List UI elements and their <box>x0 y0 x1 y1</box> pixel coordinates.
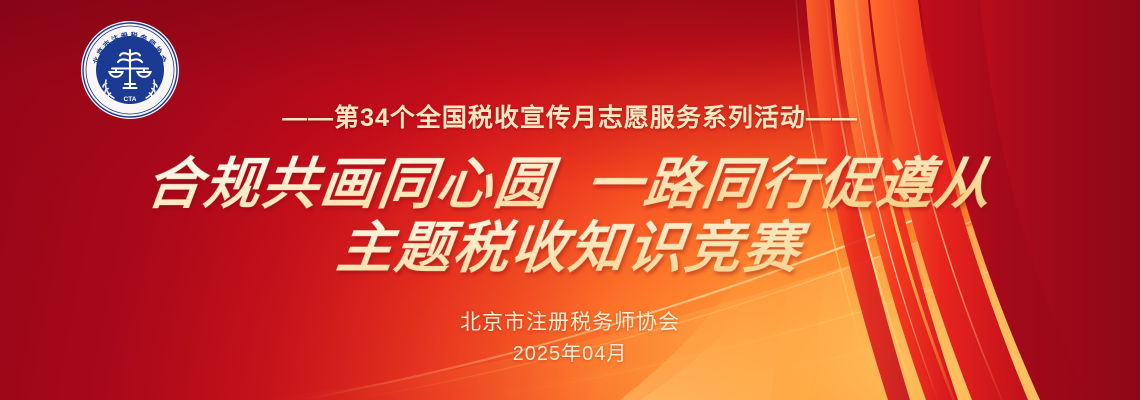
banner-footer-date: 2025年04月 <box>0 337 1140 366</box>
banner-title-line-2: 主题税收知识竞赛 <box>0 203 1140 284</box>
promotional-banner: 北京市注册税务师协会 BEIJING CERTIFIED TAX AGENTS … <box>0 0 1140 400</box>
banner-text-content: ——第34个全国税收宣传月志愿服务系列活动—— 合规共画同心圆一路同行促遵从 主… <box>0 0 1140 400</box>
banner-footer-organization: 北京市注册税务师协会 <box>0 306 1140 336</box>
banner-subtitle: ——第34个全国税收宣传月志愿服务系列活动—— <box>0 98 1140 134</box>
